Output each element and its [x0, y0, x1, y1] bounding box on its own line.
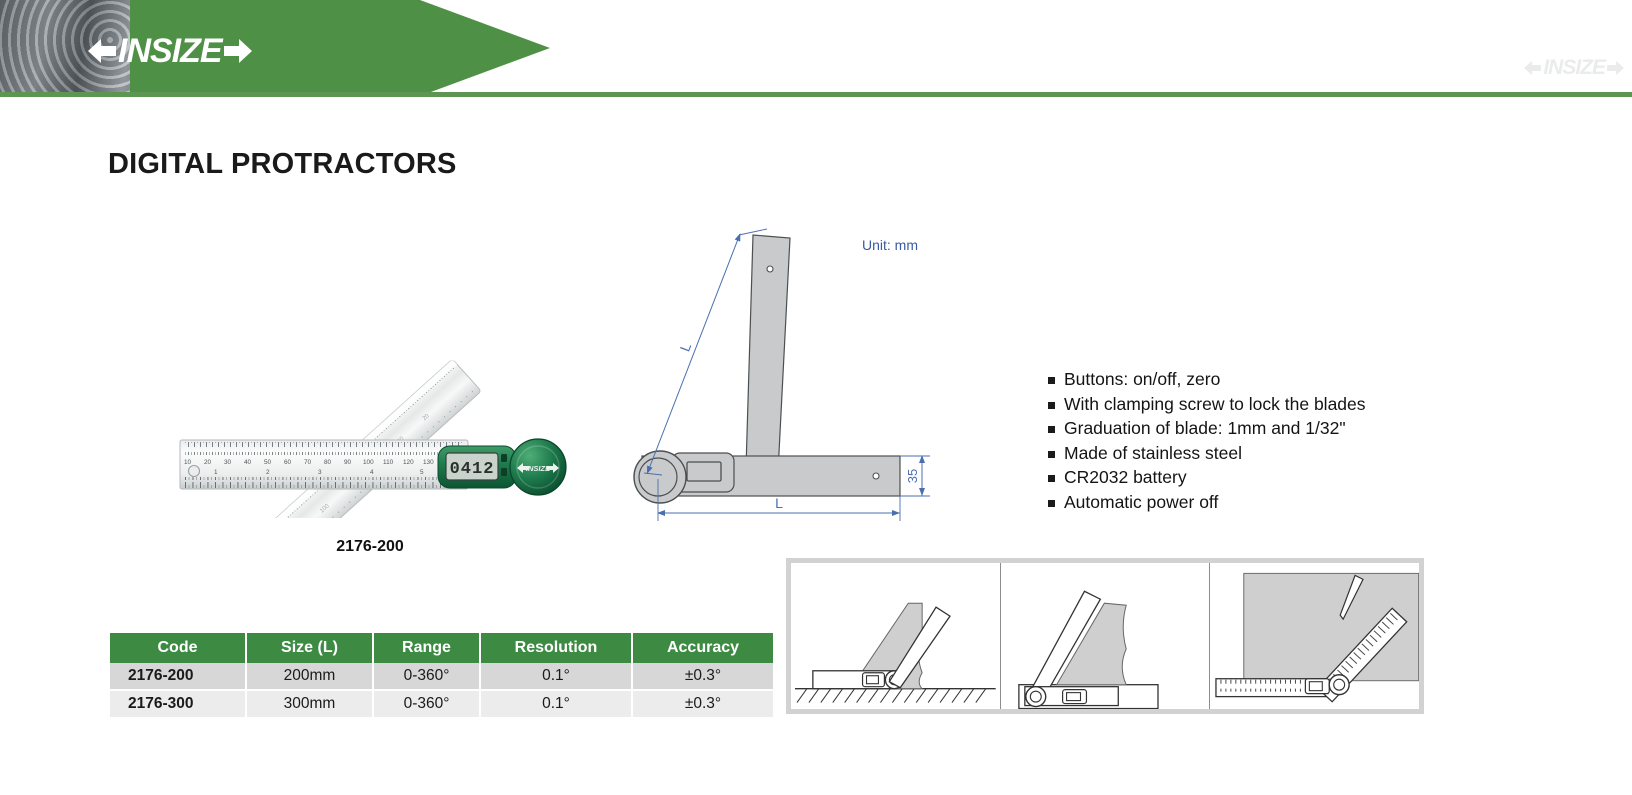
table-header-row: Code Size (L) Range Resolution Accuracy: [110, 633, 773, 663]
cell-resolution: 0.1°: [480, 690, 632, 718]
dimension-height: 35: [900, 456, 930, 496]
list-item: Buttons: on/off, zero: [1048, 368, 1468, 392]
column-header-code: Code: [110, 633, 246, 663]
square-bullet-icon: [1048, 426, 1055, 433]
svg-text:10: 10: [184, 459, 192, 466]
dimension-height-label: 35: [905, 469, 920, 483]
measuring-angle-of-inclined-workpiece: [1001, 563, 1210, 709]
watermark-left-arrow-icon: [1524, 59, 1541, 77]
product-caption: 2176-200: [170, 538, 570, 556]
product-photo: 140120100 806040 20 102030 405060 708090…: [170, 228, 570, 518]
svg-text:80: 80: [324, 459, 332, 466]
drawing-body-hole: [873, 473, 879, 479]
svg-text:50: 50: [264, 459, 272, 466]
product-lower-rule: 102030 405060 708090 100110120 130140 12…: [180, 440, 468, 489]
feature-text: Buttons: on/off, zero: [1064, 368, 1220, 392]
svg-text:4: 4: [370, 469, 374, 476]
insize-logo-text: INSIZE: [118, 34, 222, 68]
svg-text:130: 130: [423, 459, 434, 466]
svg-text:40: 40: [244, 459, 252, 466]
product-button-onoff[interactable]: [501, 454, 507, 462]
cell-resolution: 0.1°: [480, 663, 632, 690]
application-panel-3: [1210, 563, 1419, 709]
product-upper-blade: 140120100 806040 20: [222, 359, 481, 518]
header-accent-line: [0, 92, 1632, 97]
feature-text: Automatic power off: [1064, 491, 1218, 515]
svg-text:100: 100: [363, 459, 374, 466]
header-green-arrow-band: [130, 0, 1632, 96]
svg-text:3: 3: [318, 469, 322, 476]
dimension-base-length-label: L: [775, 495, 783, 511]
cell-size: 200mm: [246, 663, 373, 690]
list-item: Graduation of blade: 1mm and 1/32": [1048, 417, 1468, 441]
feature-list: Buttons: on/off, zero With clamping scre…: [1048, 368, 1468, 515]
list-item: Made of stainless steel: [1048, 442, 1468, 466]
feature-text: CR2032 battery: [1064, 466, 1187, 490]
feature-text: Graduation of blade: 1mm and 1/32": [1064, 417, 1346, 441]
cell-range: 0-360°: [373, 663, 480, 690]
watermark-right-arrow-icon: [1607, 59, 1624, 77]
feature-text: With clamping screw to lock the blades: [1064, 393, 1366, 417]
specification-table: Code Size (L) Range Resolution Accuracy …: [110, 633, 773, 719]
svg-text:2: 2: [266, 469, 270, 476]
square-bullet-icon: [1048, 402, 1055, 409]
square-bullet-icon: [1048, 377, 1055, 384]
cell-accuracy: ±0.3°: [632, 663, 773, 690]
application-panel-1: [791, 563, 1001, 709]
svg-text:30: 30: [224, 459, 232, 466]
svg-text:5: 5: [420, 469, 424, 476]
square-bullet-icon: [1048, 500, 1055, 507]
column-header-accuracy: Accuracy: [632, 633, 773, 663]
drawing-upper-blade: [746, 235, 790, 472]
square-bullet-icon: [1048, 451, 1055, 458]
page-header: INSIZE INSIZE: [0, 0, 1632, 100]
column-header-size: Size (L): [246, 633, 373, 663]
technical-drawing-svg: L L 35: [600, 225, 1000, 525]
drawing-blade-hole: [767, 266, 773, 272]
svg-text:70: 70: [304, 459, 312, 466]
insize-watermark-text: INSIZE: [1543, 57, 1605, 78]
cell-code: 2176-200: [110, 663, 246, 690]
measuring-and-scribing-angle-on-plate: [1210, 563, 1419, 709]
product-lcd-value: 0412: [450, 460, 495, 479]
svg-text:120: 120: [403, 459, 414, 466]
cell-accuracy: ±0.3°: [632, 690, 773, 718]
svg-text:1: 1: [214, 469, 218, 476]
product-photo-illustration: 140120100 806040 20 102030 405060 708090…: [170, 228, 570, 518]
column-header-range: Range: [373, 633, 480, 663]
product-display-housing: 0412: [438, 446, 516, 488]
cell-code: 2176-300: [110, 690, 246, 718]
svg-text:110: 110: [383, 459, 394, 466]
list-item: CR2032 battery: [1048, 466, 1468, 490]
table-row: 2176-300 300mm 0-360° 0.1° ±0.3°: [110, 690, 773, 718]
feature-text: Made of stainless steel: [1064, 442, 1242, 466]
insize-watermark: INSIZE: [1524, 57, 1624, 78]
drawing-lcd: [687, 462, 721, 481]
cell-size: 300mm: [246, 690, 373, 718]
list-item: Automatic power off: [1048, 491, 1468, 515]
square-bullet-icon: [1048, 475, 1055, 482]
list-item: With clamping screw to lock the blades: [1048, 393, 1468, 417]
application-illustrations: [786, 558, 1424, 714]
logo-left-arrow-icon: [88, 36, 116, 66]
product-button-zero[interactable]: [501, 468, 507, 476]
table-row: 2176-200 200mm 0-360° 0.1° ±0.3°: [110, 663, 773, 690]
page-title: DIGITAL PROTRACTORS: [108, 148, 457, 181]
measuring-angle-on-bench-surface: [791, 563, 1000, 709]
cell-range: 0-360°: [373, 690, 480, 718]
column-header-resolution: Resolution: [480, 633, 632, 663]
application-panel-2: [1001, 563, 1211, 709]
drawing-lower-body: [634, 451, 900, 503]
dimension-blade-length-label: L: [676, 341, 694, 354]
logo-right-arrow-icon: [224, 36, 252, 66]
svg-text:90: 90: [344, 459, 352, 466]
product-pivot-dial: INSIZE: [510, 439, 566, 495]
insize-logo: INSIZE: [88, 34, 252, 68]
unit-label: Unit: mm: [862, 237, 918, 253]
svg-text:20: 20: [204, 459, 212, 466]
technical-drawing: L L 35: [600, 225, 1000, 525]
svg-text:60: 60: [284, 459, 292, 466]
